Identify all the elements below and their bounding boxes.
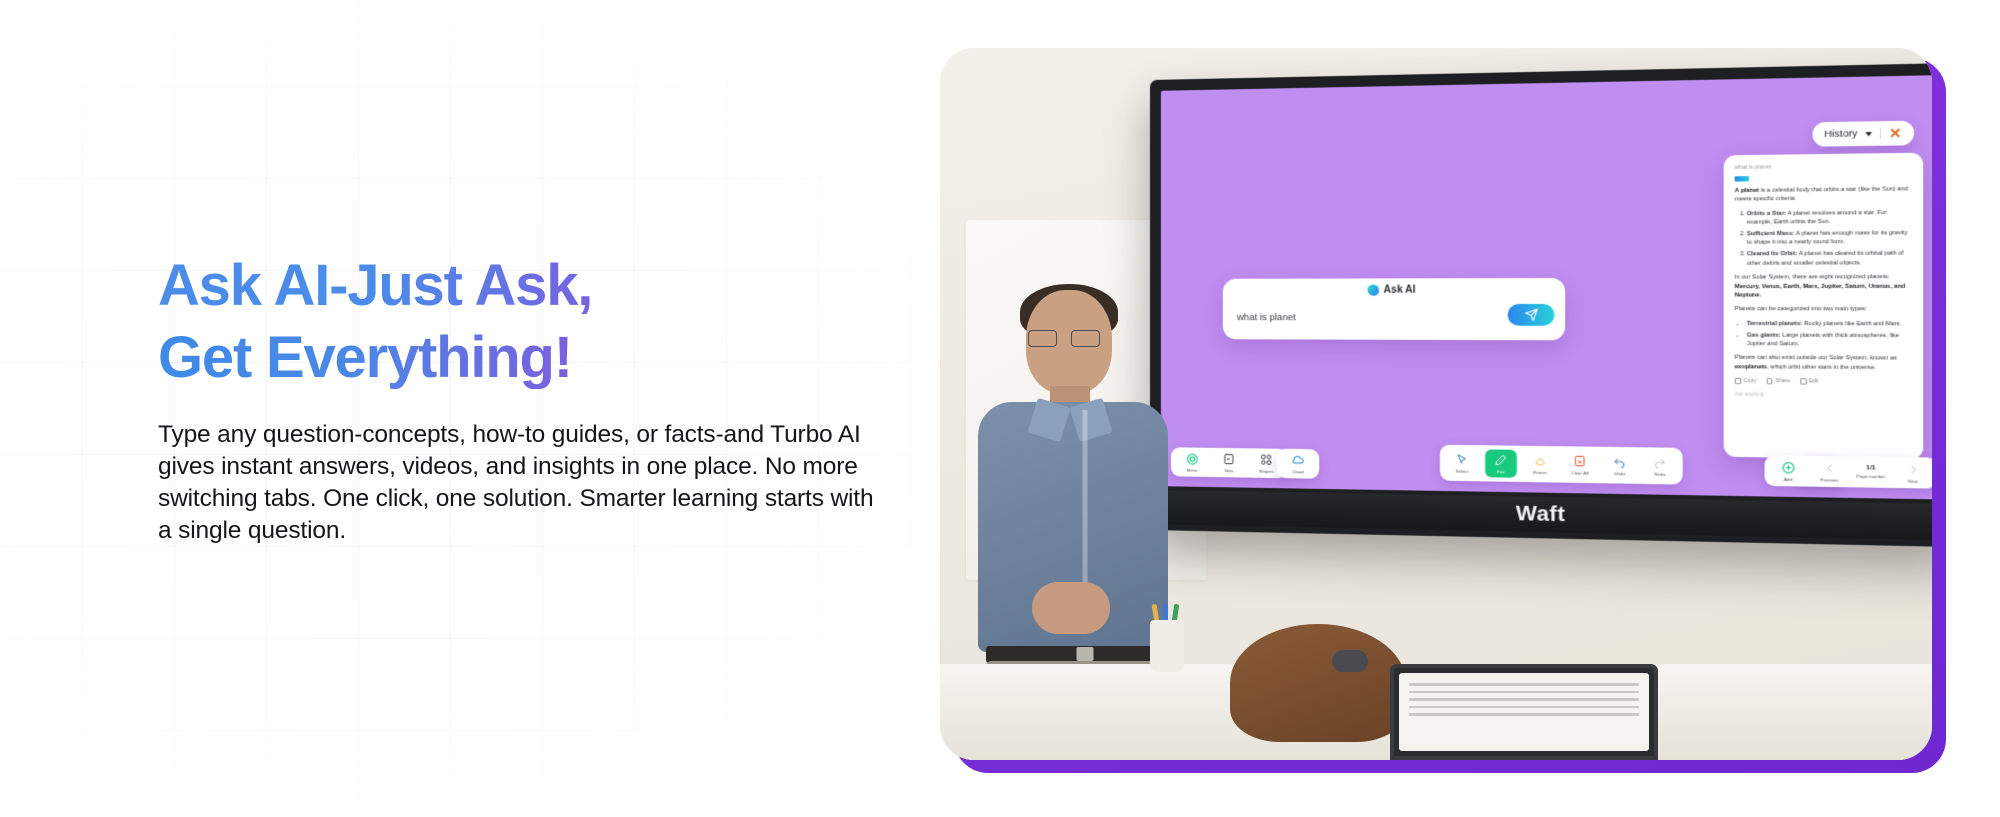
send-button[interactable] — [1508, 304, 1555, 326]
type-term: Gas giants: — [1747, 332, 1781, 338]
type-text: Rocky planets like Earth and Mars. — [1802, 321, 1901, 328]
answer-footer: Ask anything — [1735, 392, 1912, 399]
outro-pre: Planets can also exist outside our Solar… — [1735, 355, 1897, 362]
page-previous-button[interactable]: Previous — [1812, 460, 1846, 483]
headline-line-2: Get Everything! — [158, 327, 888, 388]
page-next-button[interactable]: Next — [1896, 461, 1930, 485]
tool-label: Clear All — [1571, 470, 1588, 475]
undo-arrow-icon — [1612, 454, 1628, 470]
laptop — [1390, 664, 1658, 760]
ask-ai-title: Ask AI — [1384, 285, 1416, 296]
student-head — [1230, 624, 1406, 760]
criteria-term: Orbits a Star: — [1747, 210, 1786, 217]
list-item: Terrestrial planets: Rocky planets like … — [1747, 319, 1912, 328]
send-plane-icon — [1524, 308, 1538, 321]
eraser-icon — [1532, 453, 1548, 469]
edit-action[interactable]: Edit — [1800, 378, 1819, 384]
tool-label: Redo — [1654, 472, 1665, 477]
edit-label: Edit — [1809, 378, 1819, 384]
solar-lead: In our Solar System, there are eight rec… — [1735, 274, 1890, 281]
page-add-label: Add — [1784, 477, 1793, 482]
chevron-down-icon[interactable] — [1865, 131, 1872, 135]
page-indicator-label: Page number — [1856, 473, 1885, 479]
tool-clear-all[interactable]: Clear All — [1564, 453, 1596, 476]
laptop-screen-content — [1409, 683, 1639, 721]
list-item: Cleared Its Orbit: A planet has cleared … — [1747, 250, 1912, 269]
cloud-icon — [1290, 452, 1305, 467]
answer-intro-rest: is a celestial body that orbits a star (… — [1735, 186, 1908, 203]
hero-paragraph: Type any question-concepts, how-to guide… — [158, 419, 888, 547]
page-previous-label: Previous — [1820, 477, 1839, 483]
redo-arrow-icon — [1652, 454, 1668, 470]
hero-copy: Ask AI-Just Ask, Get Everything! Type an… — [158, 255, 888, 547]
copy-label: Copy — [1744, 378, 1757, 384]
chevron-left-icon — [1821, 460, 1838, 476]
answer-intro: A planet is a celestial body that orbits… — [1735, 185, 1912, 205]
page-indicator: 1/1 Page number — [1854, 465, 1888, 479]
tool-label: Eraser — [1533, 470, 1546, 475]
page-next-label: Next — [1908, 479, 1918, 485]
page-indicator-value: 1/1 — [1866, 465, 1875, 472]
classroom-photo: Ask AI what is planet History ✕ — [940, 48, 1932, 760]
answer-criteria-list: Orbits a Star: A planet revolves around … — [1747, 208, 1912, 268]
toolbar-item-label: New — [1225, 468, 1234, 473]
share-icon — [1766, 378, 1772, 384]
answer-types-list: Terrestrial planets: Rocky planets like … — [1747, 319, 1912, 349]
type-term: Terrestrial planets: — [1747, 321, 1803, 327]
answer-question: what is planet — [1735, 162, 1912, 171]
pagination-toolbar[interactable]: Add Previous 1/1 Page number — [1765, 455, 1932, 489]
grid-shapes-icon — [1259, 452, 1274, 467]
interactive-display: Ask AI what is planet History ✕ — [1150, 63, 1932, 547]
presenter-hands — [1032, 582, 1110, 634]
page-add-button[interactable]: Add — [1771, 459, 1804, 482]
toolbar-item-new[interactable]: New — [1214, 451, 1244, 473]
pen-holder-cup — [1150, 620, 1184, 672]
headline-line-1: Ask AI-Just Ask, — [158, 255, 888, 316]
outro-bold: exoplanets — [1735, 364, 1767, 371]
toolbar-item-cloud[interactable]: Cloud — [1283, 452, 1314, 474]
chevron-right-icon — [1904, 461, 1921, 477]
history-label: History — [1824, 128, 1857, 140]
answer-outro: Planets can also exist outside our Solar… — [1735, 354, 1912, 373]
divider — [1880, 128, 1881, 140]
computer-mouse — [1332, 650, 1368, 672]
laptop-screen — [1399, 673, 1649, 751]
list-item: Sufficient Mass: A planet has enough mas… — [1747, 229, 1912, 248]
tool-eraser[interactable]: Eraser — [1524, 453, 1556, 476]
page-title: Ask AI-Just Ask, Get Everything! — [158, 255, 888, 389]
presenter-belt-buckle — [1077, 647, 1094, 661]
list-item: Orbits a Star: A planet revolves around … — [1747, 208, 1912, 227]
clear-all-icon — [1572, 453, 1588, 469]
solar-planets: Mercury, Venus, Earth, Mars, Jupiter, Sa… — [1735, 283, 1906, 299]
copy-action[interactable]: Copy — [1735, 378, 1757, 384]
device-brand-logo: Waft — [1516, 502, 1566, 528]
tool-pen[interactable]: Pen — [1485, 449, 1517, 478]
answer-intro-bold: A planet — [1735, 188, 1759, 195]
ai-answer-card[interactable]: what is planet A planet is a celestial b… — [1724, 153, 1924, 460]
student-hair — [1230, 624, 1406, 742]
answer-actions: Copy Share Edit — [1735, 378, 1912, 386]
tool-select[interactable]: Select — [1446, 451, 1478, 474]
cursor-select-icon — [1454, 452, 1470, 468]
edit-icon — [1800, 379, 1806, 385]
hero-photo-card: Ask AI what is planet History ✕ — [940, 48, 1950, 773]
presenter-glasses — [1028, 330, 1100, 346]
copy-icon — [1735, 378, 1741, 384]
list-item: Gas giants: Large planets with thick atm… — [1747, 331, 1912, 349]
outro-post: , which orbit other stars in the univers… — [1767, 364, 1876, 371]
ask-ai-header: Ask AI — [1223, 278, 1565, 296]
toolbar-tools[interactable]: Select Pen Eraser — [1440, 444, 1683, 484]
ask-ai-input[interactable]: what is planet — [1237, 312, 1296, 323]
tool-redo[interactable]: Redo — [1643, 454, 1676, 477]
share-label: Share — [1775, 378, 1790, 384]
ai-badge-icon — [1735, 176, 1749, 181]
share-action[interactable]: Share — [1766, 378, 1790, 385]
answer-types-lead: Planets can be categorized into two main… — [1735, 305, 1912, 314]
ask-ai-card[interactable]: Ask AI what is planet — [1223, 278, 1565, 340]
criteria-term: Cleared Its Orbit: — [1747, 251, 1797, 258]
criteria-term: Sufficient Mass: — [1747, 231, 1795, 238]
close-x-icon[interactable]: ✕ — [1889, 126, 1901, 140]
toolbar-cloud[interactable]: Cloud — [1276, 448, 1319, 479]
display-screen: Ask AI what is planet History ✕ — [1161, 75, 1932, 500]
pen-icon — [1493, 452, 1509, 468]
tool-label: Select — [1456, 469, 1469, 474]
history-pill[interactable]: History ✕ — [1812, 121, 1914, 147]
tool-label: Undo — [1614, 471, 1625, 476]
toolbar-item-label: Shapes — [1259, 469, 1274, 474]
ai-blob-icon — [1367, 285, 1378, 296]
toolbar-item-label: Cloud — [1292, 469, 1303, 474]
answer-solar-system: In our Solar System, there are eight rec… — [1735, 273, 1912, 300]
tool-undo[interactable]: Undo — [1603, 454, 1635, 477]
new-page-icon — [1221, 451, 1236, 466]
tool-label: Pen — [1497, 469, 1505, 474]
plus-circle-icon — [1780, 459, 1797, 475]
